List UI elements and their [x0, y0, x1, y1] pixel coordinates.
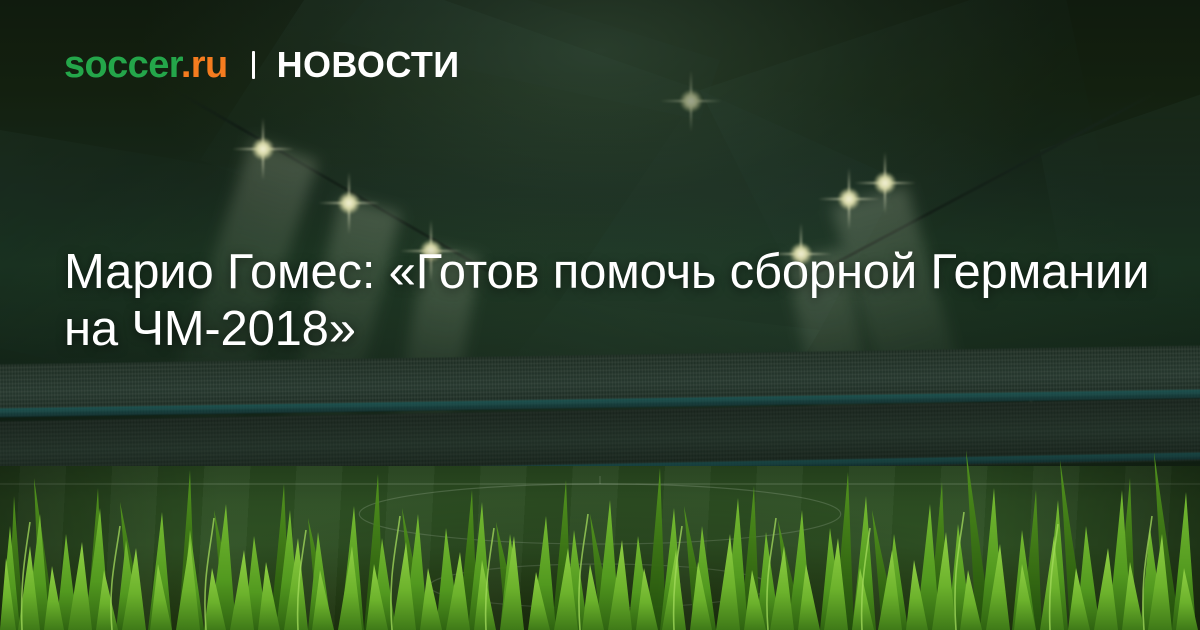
- football-pitch: [0, 466, 1200, 630]
- logo-text-primary: soccer: [64, 44, 181, 86]
- section-label: НОВОСТИ: [277, 47, 460, 83]
- page-title: Марио Гомес: «Готов помочь сборной Герма…: [64, 244, 1154, 358]
- header-separator: [252, 51, 255, 79]
- site-header: soccer.ru НОВОСТИ: [64, 46, 459, 84]
- site-logo[interactable]: soccer.ru: [64, 46, 228, 84]
- pitch-vignette: [0, 466, 1200, 630]
- logo-text-accent: .ru: [181, 44, 228, 86]
- news-share-card: soccer.ru НОВОСТИ Марио Гомес: «Готов по…: [0, 0, 1200, 630]
